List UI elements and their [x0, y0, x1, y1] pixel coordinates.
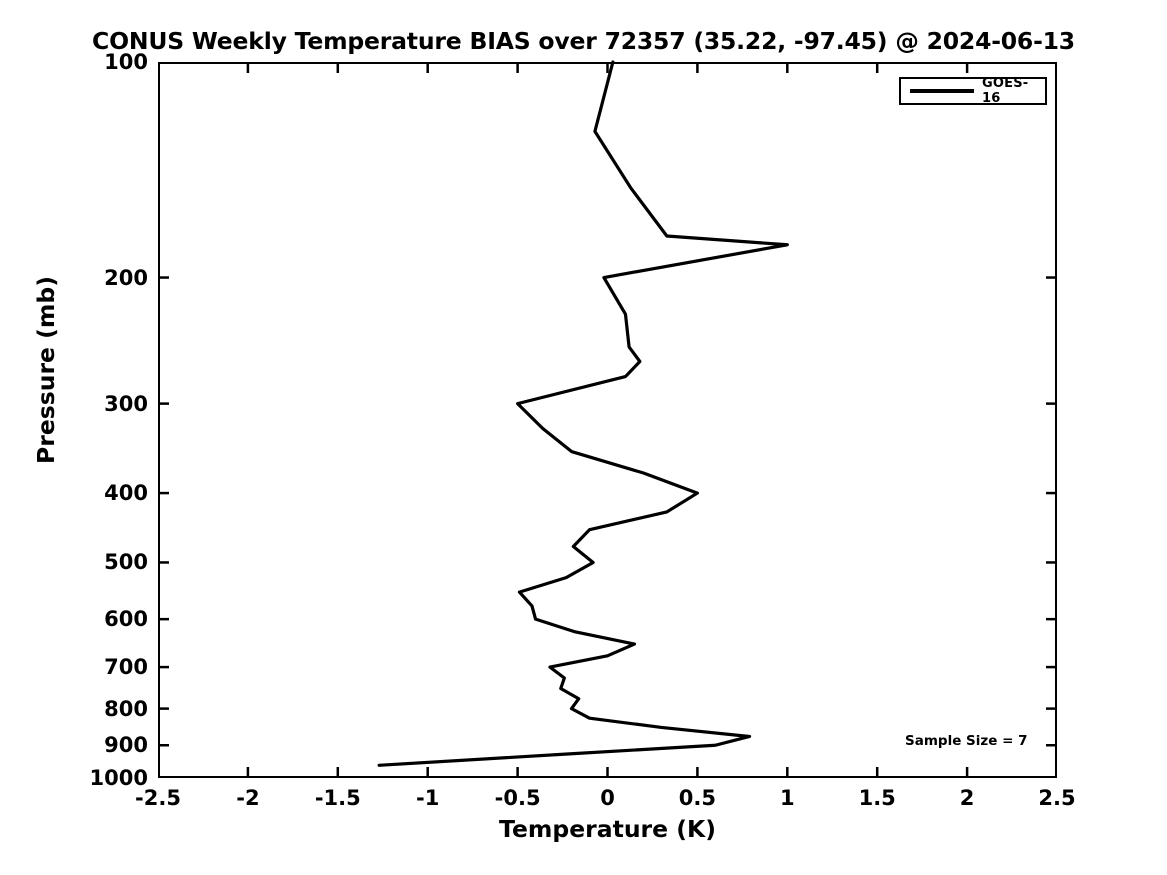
x-tick-label-10: 2.5 [1038, 786, 1075, 810]
x-tick-label-1: -2 [236, 786, 259, 810]
y-tick-label-200: 200 [104, 266, 148, 290]
series-line-goes-16 [379, 62, 787, 765]
legend: GOES-16 [899, 77, 1047, 105]
y-tick-label-400: 400 [104, 481, 148, 505]
y-axis-title: Pressure (mb) [32, 260, 60, 480]
data-line-layer [158, 62, 1057, 778]
x-tick-label-0: -2.5 [135, 786, 181, 810]
y-tick-label-100: 100 [104, 50, 148, 74]
figure-canvas: CONUS Weekly Temperature BIAS over 72357… [0, 0, 1167, 875]
y-axis-tick-labels: 1002003004005006007008009001000 [0, 62, 148, 778]
x-tick-label-9: 2 [960, 786, 975, 810]
x-axis-title: Temperature (K) [158, 815, 1057, 843]
x-axis-tick-labels: -2.5-2-1.5-1-0.500.511.522.5 [158, 786, 1057, 816]
legend-swatch-goes-16 [910, 89, 974, 93]
plot-area [158, 62, 1057, 778]
x-tick-label-8: 1.5 [859, 786, 896, 810]
chart-title: CONUS Weekly Temperature BIAS over 72357… [0, 27, 1167, 55]
y-tick-label-800: 800 [104, 697, 148, 721]
y-tick-label-900: 900 [104, 733, 148, 757]
x-tick-label-2: -1.5 [315, 786, 361, 810]
axis-ticks [158, 62, 1057, 778]
y-tick-label-500: 500 [104, 550, 148, 574]
x-tick-label-7: 1 [780, 786, 795, 810]
x-tick-label-4: -0.5 [495, 786, 541, 810]
x-tick-label-5: 0 [600, 786, 615, 810]
sample-size-annotation: Sample Size = 7 [905, 733, 1028, 749]
y-tick-label-600: 600 [104, 607, 148, 631]
legend-label-goes-16: GOES-16 [982, 76, 1045, 106]
x-tick-label-3: -1 [416, 786, 439, 810]
y-tick-label-300: 300 [104, 392, 148, 416]
x-tick-label-6: 0.5 [679, 786, 716, 810]
y-tick-label-700: 700 [104, 655, 148, 679]
